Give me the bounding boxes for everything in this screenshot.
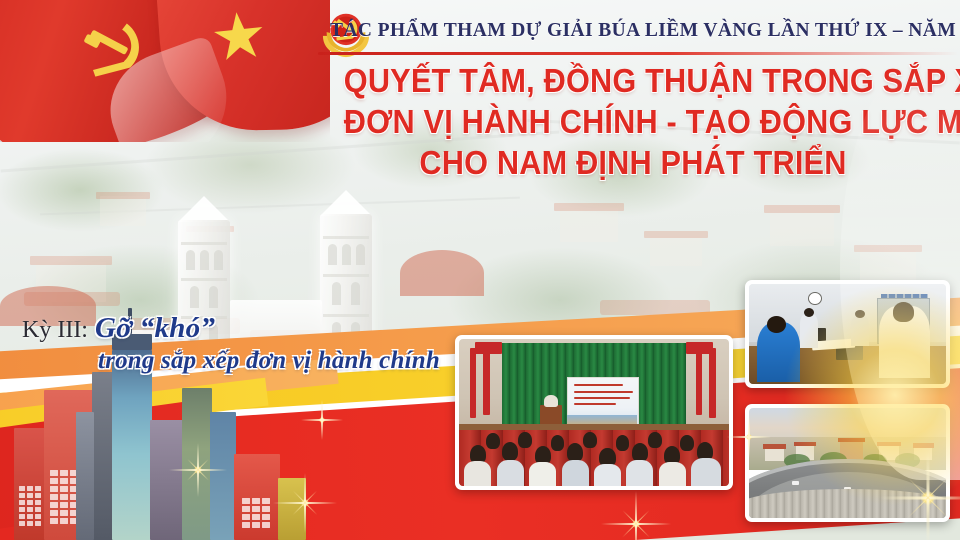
award-header: TÁC PHẨM THAM DỰ GIẢI BÚA LIỀM VÀNG LẦN … [330, 20, 942, 42]
conference-hall-photo[interactable] [455, 335, 733, 490]
subtitle-line-2: trong sắp xếp đơn vị hành chính [98, 347, 472, 375]
flags-group [0, 0, 330, 142]
subtitle-line-1: Gỡ “khó” [95, 312, 215, 345]
poster-canvas: TÁC PHẨM THAM DỰ GIẢI BÚA LIỀM VÀNG LẦN … [0, 0, 960, 540]
yellow-star-icon [209, 7, 268, 66]
title-line-2: ĐƠN VỊ HÀNH CHÍNH - TẠO ĐỘNG LỰC MỚI [344, 101, 922, 142]
series-subtitle: Kỳ III: Gỡ “khó” trong sắp xếp đơn vị hà… [22, 312, 472, 375]
title-line-1: QUYẾT TÂM, ĐỒNG THUẬN TRONG SẮP XẾP [344, 60, 922, 101]
award-header-text: TÁC PHẨM THAM DỰ GIẢI BÚA LIỀM VÀNG LẦN … [330, 20, 960, 41]
hammer-sickle-icon [74, 15, 154, 86]
header-divider [318, 52, 958, 55]
title-line-3: CHO NAM ĐỊNH PHÁT TRIỂN [344, 142, 922, 183]
series-part-label: Kỳ III: [22, 317, 88, 344]
